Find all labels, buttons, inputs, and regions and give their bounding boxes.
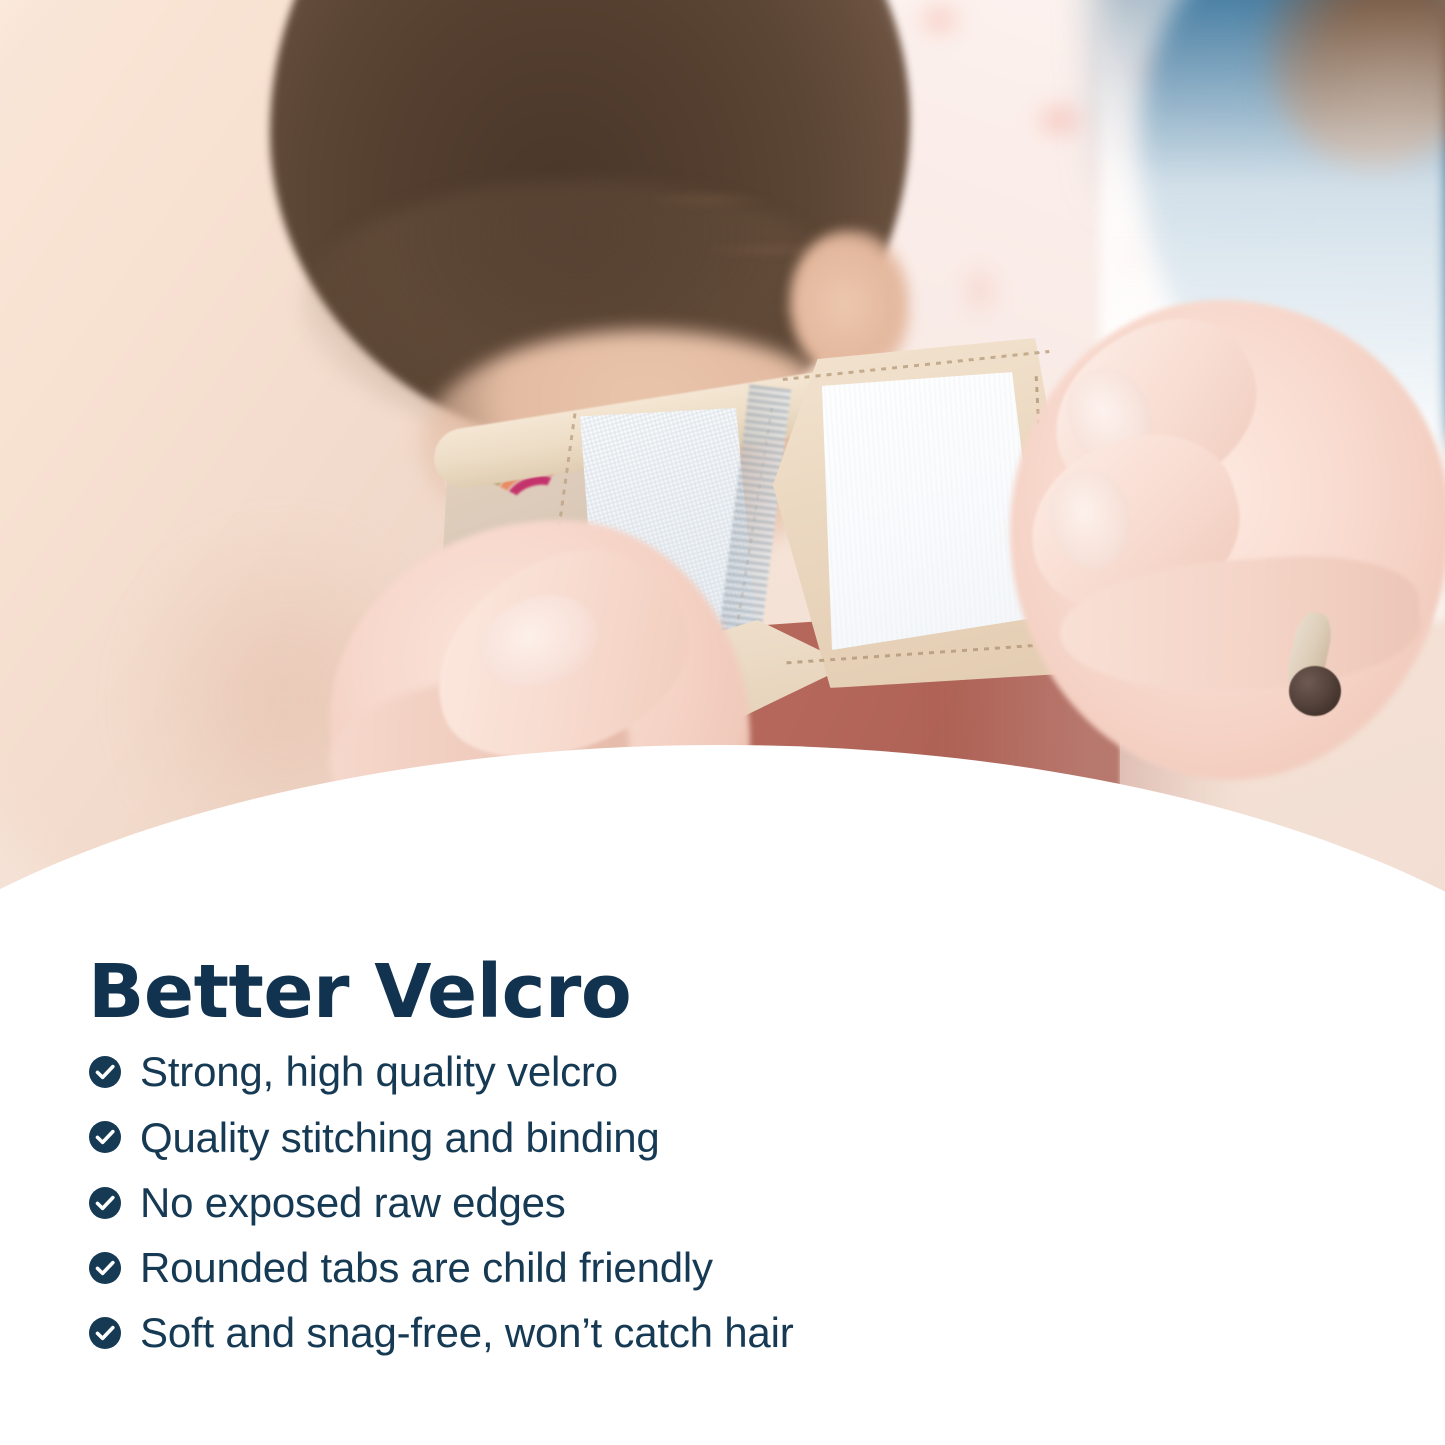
feature-label: Soft and snag-free, won’t catch hair bbox=[140, 1307, 794, 1358]
feature-label: Rounded tabs are child friendly bbox=[140, 1242, 713, 1293]
feature-label: No exposed raw edges bbox=[140, 1177, 566, 1228]
list-item: Soft and snag-free, won’t catch hair bbox=[88, 1307, 1288, 1358]
feature-list: Strong, high quality velcro Quality stit… bbox=[88, 1046, 1288, 1358]
feature-content: Better Velcro Strong, high quality velcr… bbox=[88, 955, 1288, 1373]
check-circle-icon bbox=[88, 1055, 122, 1089]
check-circle-icon bbox=[88, 1251, 122, 1285]
list-item: Quality stitching and binding bbox=[88, 1112, 1288, 1163]
product-feature-card: Better Velcro Strong, high quality velcr… bbox=[0, 0, 1445, 1445]
ring-stone bbox=[1289, 666, 1341, 716]
list-item: Strong, high quality velcro bbox=[88, 1046, 1288, 1097]
page-title: Better Velcro bbox=[88, 955, 1288, 1030]
feature-label: Quality stitching and binding bbox=[140, 1112, 660, 1163]
list-item: No exposed raw edges bbox=[88, 1177, 1288, 1228]
check-circle-icon bbox=[88, 1186, 122, 1220]
check-circle-icon bbox=[88, 1120, 122, 1154]
feature-label: Strong, high quality velcro bbox=[140, 1046, 618, 1097]
check-circle-icon bbox=[88, 1316, 122, 1350]
list-item: Rounded tabs are child friendly bbox=[88, 1242, 1288, 1293]
